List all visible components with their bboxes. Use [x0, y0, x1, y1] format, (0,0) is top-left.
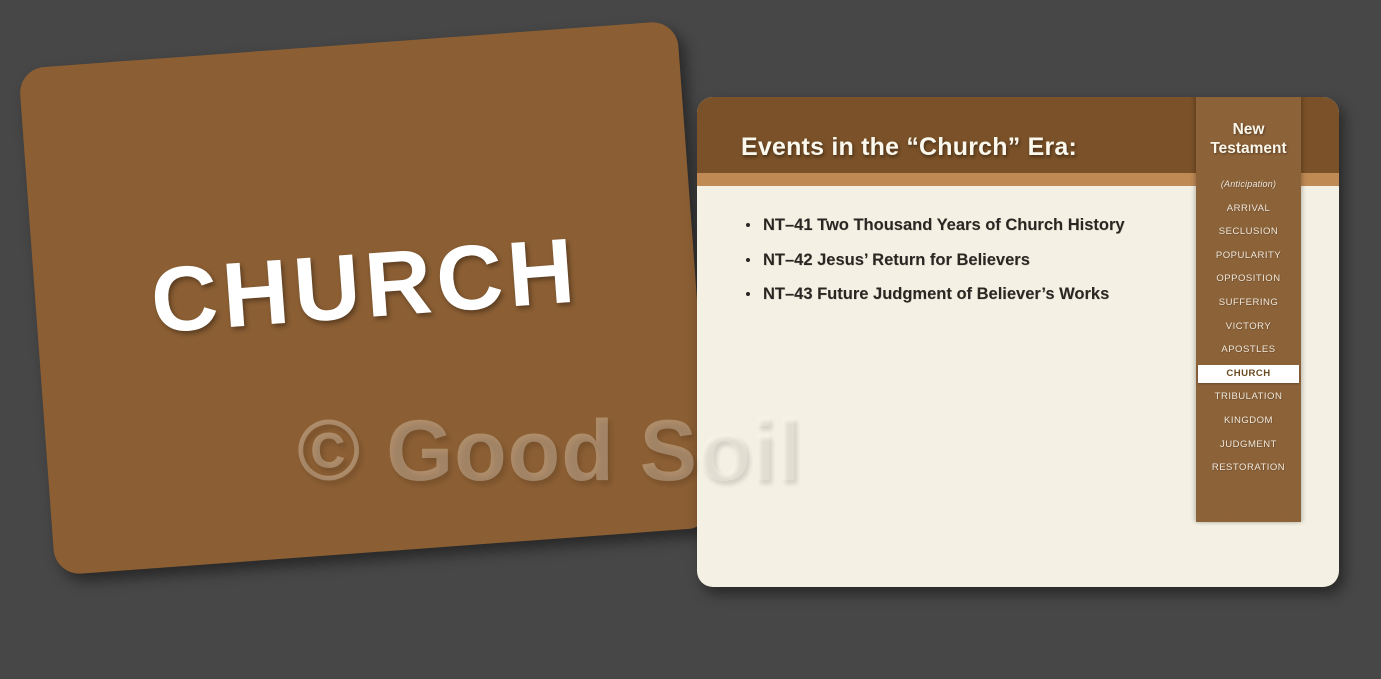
ribbon-item-label: ARRIVAL	[1227, 204, 1271, 214]
bullet-dot-icon	[746, 292, 750, 296]
slide-title: Events in the “Church” Era:	[741, 133, 1077, 162]
screenshot-stage: CHURCH Events in the “Church” Era: NT–41…	[0, 0, 1381, 679]
ribbon-body: New Testament (Anticipation)ARRIVALSECLU…	[1196, 97, 1301, 496]
ribbon-item-church[interactable]: CHURCH	[1198, 365, 1299, 383]
list-item-label: NT–41 Two Thousand Years of Church Histo…	[763, 216, 1125, 234]
events-slide-card[interactable]: Events in the “Church” Era: NT–41 Two Th…	[697, 97, 1339, 587]
ribbon-item-tribulation[interactable]: TRIBULATION	[1196, 391, 1301, 403]
ribbon-item-restoration[interactable]: RESTORATION	[1196, 462, 1301, 474]
list-item-label: NT–42 Jesus’ Return for Believers	[763, 251, 1030, 269]
ribbon-item-apostles[interactable]: APOSTLES	[1196, 344, 1301, 356]
ribbon-item-label: TRIBULATION	[1215, 392, 1283, 402]
ribbon-item-label: JUDGMENT	[1220, 440, 1277, 450]
ribbon-item-label: SECLUSION	[1219, 227, 1279, 237]
ribbon-item-label: (Anticipation)	[1221, 180, 1276, 189]
ribbon-heading-line2: Testament	[1200, 140, 1297, 159]
ribbon-item-kingdom[interactable]: KINGDOM	[1196, 415, 1301, 427]
ribbon-era-list: (Anticipation)ARRIVALSECLUSIONPOPULARITY…	[1196, 179, 1301, 474]
ribbon-item-label: VICTORY	[1226, 322, 1271, 332]
ribbon-item-anticipation[interactable]: (Anticipation)	[1196, 179, 1301, 191]
ribbon-item-label: OPPOSITION	[1216, 274, 1280, 284]
list-item[interactable]: NT–42 Jesus’ Return for Believers	[743, 252, 1183, 269]
ribbon-item-opposition[interactable]: OPPOSITION	[1196, 273, 1301, 285]
list-item[interactable]: NT–41 Two Thousand Years of Church Histo…	[743, 217, 1183, 234]
ribbon-item-suffering[interactable]: SUFFERING	[1196, 297, 1301, 309]
church-title-card[interactable]: CHURCH	[18, 21, 713, 576]
events-bullet-list: NT–41 Two Thousand Years of Church Histo…	[743, 217, 1183, 321]
ribbon-heading-line1: New	[1200, 121, 1297, 140]
church-card-label: CHURCH	[33, 216, 698, 356]
ribbon-item-label: APOSTLES	[1221, 345, 1275, 355]
ribbon-item-label: KINGDOM	[1224, 416, 1273, 426]
bullet-dot-icon	[746, 258, 750, 262]
ribbon-item-label: RESTORATION	[1212, 463, 1285, 473]
new-testament-ribbon: New Testament (Anticipation)ARRIVALSECLU…	[1196, 97, 1301, 522]
ribbon-item-label: SUFFERING	[1219, 298, 1278, 308]
ribbon-zigzag-edge-icon	[1196, 496, 1301, 522]
bullet-dot-icon	[746, 223, 750, 227]
ribbon-item-victory[interactable]: VICTORY	[1196, 320, 1301, 332]
list-item[interactable]: NT–43 Future Judgment of Believer’s Work…	[743, 286, 1183, 303]
ribbon-item-judgment[interactable]: JUDGMENT	[1196, 438, 1301, 450]
ribbon-item-label: POPULARITY	[1216, 251, 1281, 261]
ribbon-item-label: CHURCH	[1226, 369, 1270, 379]
ribbon-item-popularity[interactable]: POPULARITY	[1196, 250, 1301, 262]
ribbon-item-seclusion[interactable]: SECLUSION	[1196, 226, 1301, 238]
list-item-label: NT–43 Future Judgment of Believer’s Work…	[763, 285, 1109, 303]
ribbon-item-arrival[interactable]: ARRIVAL	[1196, 202, 1301, 214]
ribbon-heading: New Testament	[1196, 121, 1301, 179]
